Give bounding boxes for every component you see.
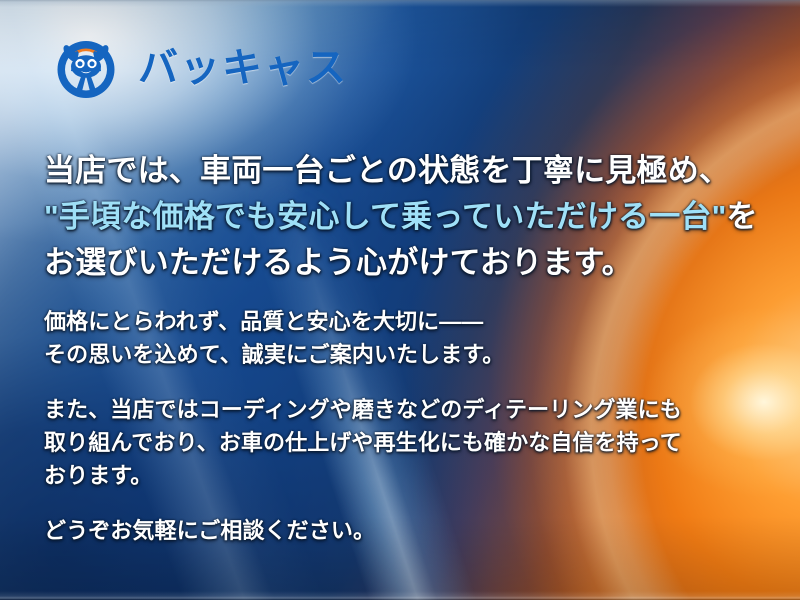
paragraph-price-quality: 価格にとらわれず、品質と安心を大切に—— その思いを込めて、誠実にご案内いたしま…: [44, 305, 784, 371]
paragraph-detailing: また、当店ではコーディングや磨きなどのディテーリング業にも 取り組んでおり、お車…: [44, 393, 784, 492]
promo-banner: バッキャス 当店では、車両一台ごとの状態を丁寧に見極め、 "手頃な価格でも安心し…: [0, 0, 800, 600]
headline-line-1: 当店では、車両一台ごとの状態を丁寧に見極め、: [44, 148, 774, 194]
paragraph-contact: どうぞお気軽にご相談ください。: [44, 514, 784, 547]
headline-line-3: お選びいただけるよう心がけております。: [44, 240, 774, 286]
headline-block: 当店では、車両一台ごとの状態を丁寧に見極め、 "手頃な価格でも安心して乗っていた…: [44, 148, 774, 286]
body-text-block: 価格にとらわれず、品質と安心を大切に—— その思いを込めて、誠実にご案内いたしま…: [44, 305, 784, 547]
body-line: おります。: [44, 459, 784, 492]
headline-line-2-suffix: を: [727, 199, 758, 234]
body-line: どうぞお気軽にご相談ください。: [44, 514, 784, 547]
body-line: その思いを込めて、誠実にご案内いたします。: [44, 338, 784, 371]
body-line: 価格にとらわれず、品質と安心を大切に——: [44, 305, 784, 338]
body-line: また、当店ではコーディングや磨きなどのディテーリング業にも: [44, 393, 784, 426]
headline-line-2: "手頃な価格でも安心して乗っていただける一台"を: [44, 194, 774, 240]
steering-wheel-character-icon: [48, 32, 124, 104]
headline-quote-accent: "手頃な価格でも安心して乗っていただける一台": [44, 199, 727, 234]
body-line: 取り組んでおり、お車の仕上げや再生化にも確かな自信を持って: [44, 426, 784, 459]
brand-wordmark: バッキャス: [138, 48, 348, 88]
brand-logo: バッキャス: [48, 32, 348, 104]
